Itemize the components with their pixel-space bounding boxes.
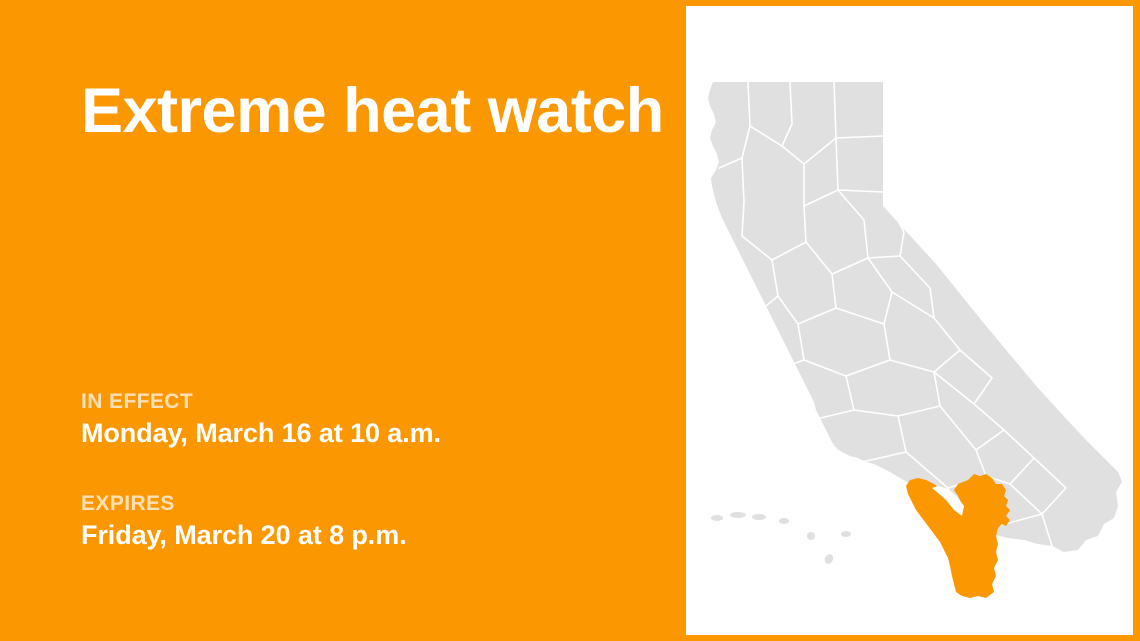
channel-island-3	[752, 514, 766, 520]
page-title: Extreme heat watch	[81, 78, 664, 144]
in-effect-label: IN EFFECT	[81, 390, 441, 414]
in-effect-value: Monday, March 16 at 10 a.m.	[81, 417, 441, 449]
expires-block: EXPIRES Friday, March 20 at 8 p.m.	[81, 492, 407, 552]
channel-island-7	[823, 553, 835, 566]
alert-text-column: Extreme heat watch IN EFFECT Monday, Mar…	[0, 0, 686, 641]
map-panel	[686, 6, 1133, 635]
california-county-map	[686, 6, 1133, 635]
in-effect-block: IN EFFECT Monday, March 16 at 10 a.m.	[81, 390, 441, 450]
channel-island-6	[841, 531, 851, 537]
expires-value: Friday, March 20 at 8 p.m.	[81, 519, 407, 551]
weather-alert-card: Extreme heat watch IN EFFECT Monday, Mar…	[0, 0, 1140, 641]
highlighted-county-layer	[906, 474, 1010, 598]
channel-island-2	[730, 512, 746, 518]
highlighted-county-orange	[906, 474, 1010, 598]
channel-island-1	[711, 515, 723, 521]
expires-label: EXPIRES	[81, 492, 407, 516]
channel-island-4	[779, 518, 789, 524]
channel-island-5	[807, 532, 815, 540]
